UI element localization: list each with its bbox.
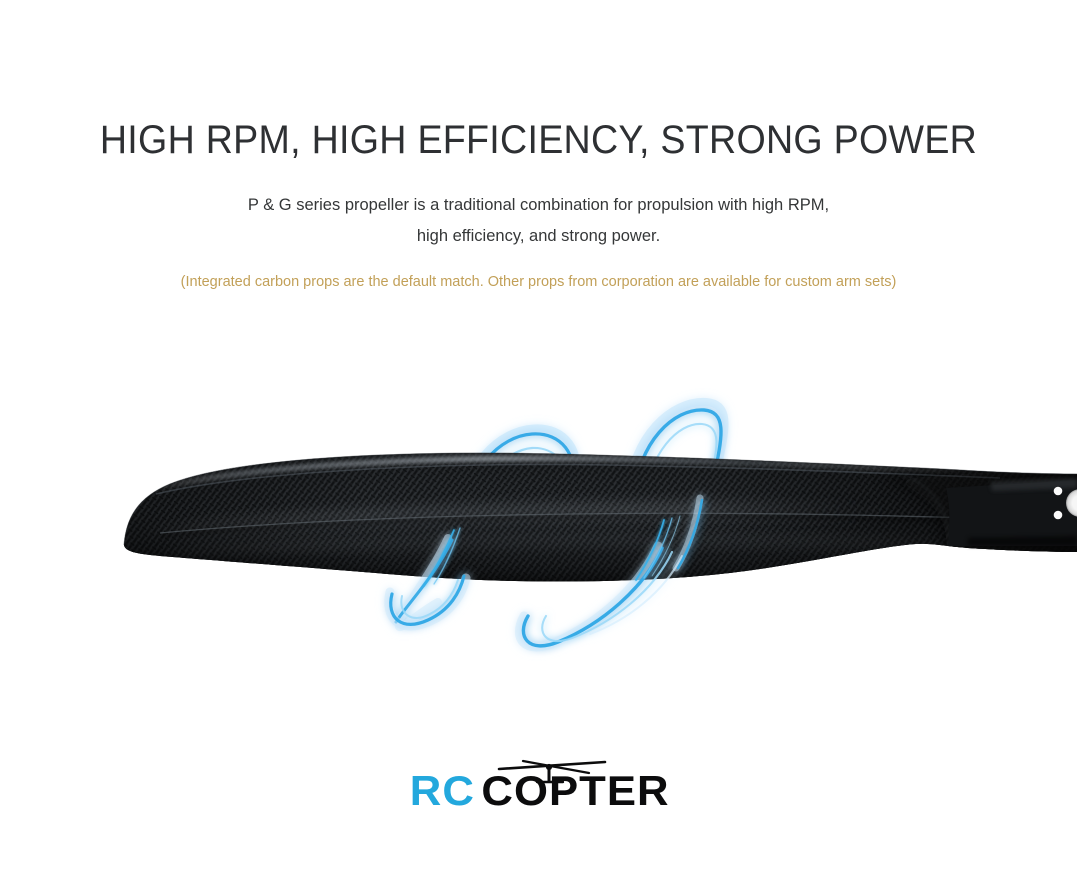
brand-logo-copter-text: COPTER [481, 756, 669, 826]
propeller-illustration [0, 370, 1077, 690]
subcopy: P & G series propeller is a traditional … [0, 190, 1077, 252]
subcopy-line-1: P & G series propeller is a traditional … [0, 190, 1077, 221]
propeller-hub [946, 478, 1077, 546]
page-title: HIGH RPM, HIGH EFFICIENCY, STRONG POWER [32, 112, 1044, 168]
note-text: (Integrated carbon props are the default… [0, 272, 1077, 292]
propeller-image [0, 370, 1077, 690]
brand-logo-inner: RCCOPTER [411, 756, 666, 826]
blade-body [0, 430, 1077, 620]
product-banner-page: HIGH RPM, HIGH EFFICIENCY, STRONG POWER … [0, 0, 1077, 873]
brand-logo-rc-text: RC [410, 756, 475, 826]
copy-block: HIGH RPM, HIGH EFFICIENCY, STRONG POWER … [0, 112, 1077, 292]
subcopy-line-2: high efficiency, and strong power. [0, 221, 1077, 252]
brand-logo[interactable]: RCCOPTER [0, 756, 1077, 826]
